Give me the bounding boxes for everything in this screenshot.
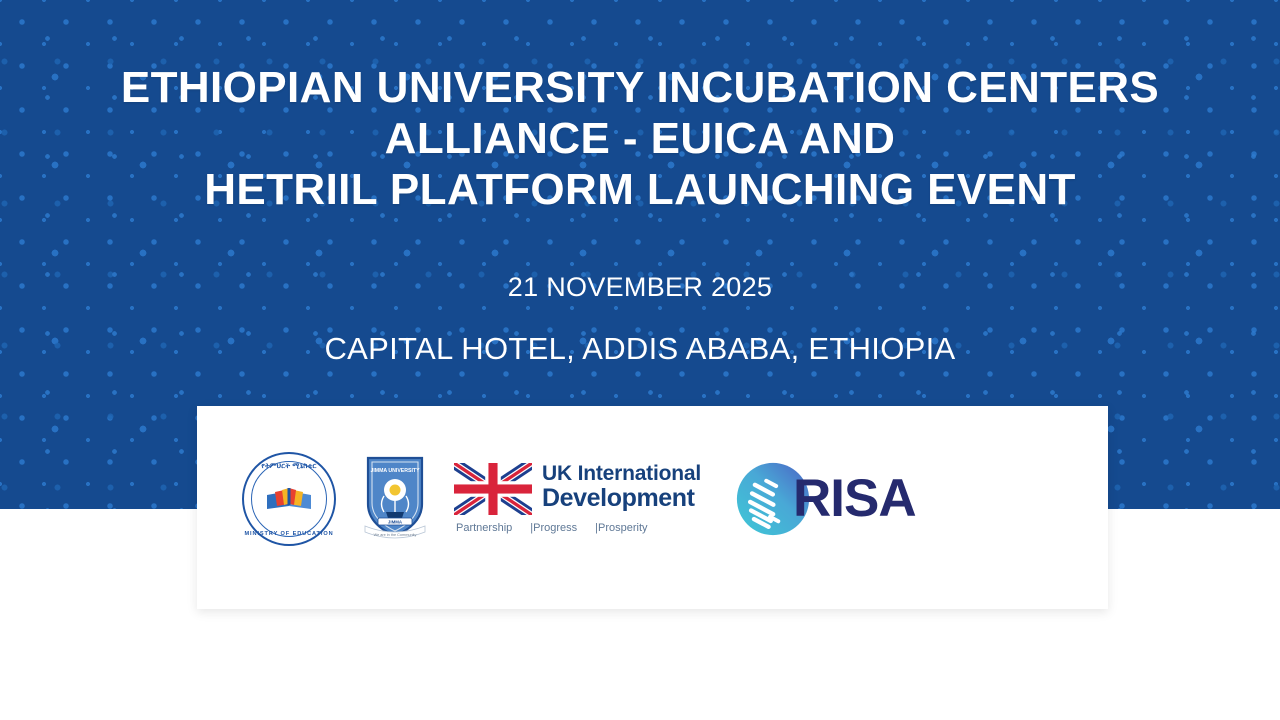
open-book-icon [264,484,314,514]
sponsor-logo-panel: የትምህርት ሚኒስቴር MINISTRY OF EDUCATION [197,406,1108,609]
uk-international-development-logo: UK International Development Partnership… [454,463,701,534]
ministry-of-education-logo: የትምህርት ሚኒስቴር MINISTRY OF EDUCATION [242,452,336,546]
ukid-tagline-progress: |Progress [530,522,577,534]
event-title-line-3: HETRIIL PLATFORM LAUNCHING EVENT [0,164,1280,215]
ukid-top-row: UK International Development [454,463,701,515]
event-date: 21 NOVEMBER 2025 [0,272,1280,303]
event-venue: CAPITAL HOTEL, ADDIS ABABA, ETHIOPIA [0,331,1280,367]
svg-text:JIMMA: JIMMA [388,519,403,524]
event-title-line-2: ALLIANCE - EUICA AND [0,113,1280,164]
shield-crest-icon: JIMMA UNIVERSITY JIMMA We are in the Com… [362,452,428,546]
union-jack-flag-icon [454,463,532,515]
event-banner-slide: ETHIOPIAN UNIVERSITY INCUBATION CENTERS … [0,0,1280,720]
svg-text:We are in the Community: We are in the Community [374,533,417,537]
ukid-tagline-prosperity: |Prosperity [595,522,647,534]
ukid-line-1: UK International [542,463,701,484]
moe-english-label: MINISTRY OF EDUCATION [242,531,336,537]
svg-text:JIMMA UNIVERSITY: JIMMA UNIVERSITY [370,468,420,474]
ukid-tagline: Partnership |Progress |Prosperity [454,522,701,534]
logo-row: የትምህርት ሚኒስቴር MINISTRY OF EDUCATION [197,452,916,546]
moe-amharic-label: የትምህርት ሚኒስቴር [242,463,336,471]
event-title-line-1: ETHIOPIAN UNIVERSITY INCUBATION CENTERS [0,62,1280,113]
ukid-wordmark: UK International Development [542,463,701,511]
university-shield-logo: JIMMA UNIVERSITY JIMMA We are in the Com… [362,452,428,546]
risa-logo: RISA [735,461,916,537]
ukid-tagline-partnership: Partnership [456,522,512,534]
risa-wordmark: RISA [793,472,916,525]
event-title: ETHIOPIAN UNIVERSITY INCUBATION CENTERS … [0,62,1280,215]
ukid-line-2: Development [542,486,701,511]
